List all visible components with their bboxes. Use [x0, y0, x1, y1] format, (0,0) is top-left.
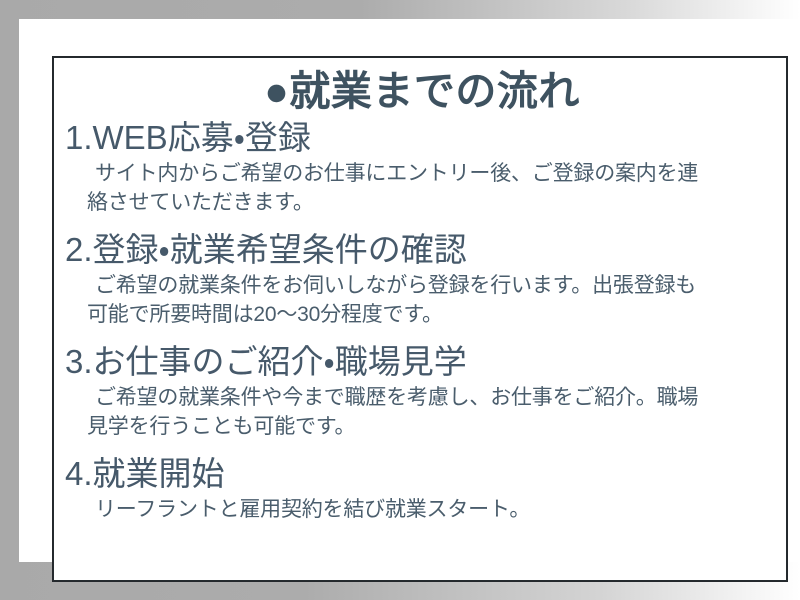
step-body-line: 見学を行うことも可能です。	[87, 413, 785, 442]
content-area: ●就業までの流れ 1.WEB応募・登録 サイト内からご希望のお仕事にエントリー後…	[55, 59, 789, 581]
step-body-1: サイト内からご希望のお仕事にエントリー後、ご登録の案内を連 絡させていただきます…	[65, 160, 785, 217]
step-body-line: ご希望の就業条件をお伺いしながら登録を行います。出張登録も	[95, 272, 785, 301]
white-sheet: ●就業までの流れ 1.WEB応募・登録 サイト内からご希望のお仕事にエントリー後…	[19, 19, 800, 562]
step-body-line: リーフラントと雇用契約を結び就業スタート。	[95, 496, 785, 525]
step-item-1: 1.WEB応募・登録 サイト内からご希望のお仕事にエントリー後、ご登録の案内を連…	[55, 119, 789, 217]
step-item-2: 2.登録・就業希望条件の確認 ご希望の就業条件をお伺いしながら登録を行います。出…	[55, 231, 789, 329]
step-body-line: 絡させていただきます。	[87, 189, 785, 218]
steps-list: 1.WEB応募・登録 サイト内からご希望のお仕事にエントリー後、ご登録の案内を連…	[55, 119, 789, 525]
step-body-3: ご希望の就業条件や今まで職歴を考慮し、お仕事をご紹介。職場 見学を行うことも可能…	[65, 384, 785, 441]
step-item-4: 4.就業開始 リーフラントと雇用契約を結び就業スタート。	[55, 455, 789, 524]
page-canvas: ●就業までの流れ 1.WEB応募・登録 サイト内からご希望のお仕事にエントリー後…	[0, 0, 800, 600]
decorative-band-left	[0, 0, 19, 600]
step-body-4: リーフラントと雇用契約を結び就業スタート。	[65, 496, 785, 525]
step-body-line: 可能で所要時間は20〜30分程度です。	[87, 301, 785, 330]
step-heading-2: 2.登録・就業希望条件の確認	[65, 231, 785, 270]
decorative-band-top	[0, 0, 800, 19]
step-body-line: ご希望の就業条件や今まで職歴を考慮し、お仕事をご紹介。職場	[95, 384, 785, 413]
step-body-line: サイト内からご希望のお仕事にエントリー後、ご登録の案内を連	[95, 160, 785, 189]
step-heading-1: 1.WEB応募・登録	[65, 119, 785, 158]
step-item-3: 3.お仕事のご紹介・職場見学 ご希望の就業条件や今まで職歴を考慮し、お仕事をご紹…	[55, 343, 789, 441]
step-heading-3: 3.お仕事のご紹介・職場見学	[65, 343, 785, 382]
page-title: ●就業までの流れ	[55, 59, 789, 113]
step-body-2: ご希望の就業条件をお伺いしながら登録を行います。出張登録も 可能で所要時間は20…	[65, 272, 785, 329]
step-heading-4: 4.就業開始	[65, 455, 785, 494]
